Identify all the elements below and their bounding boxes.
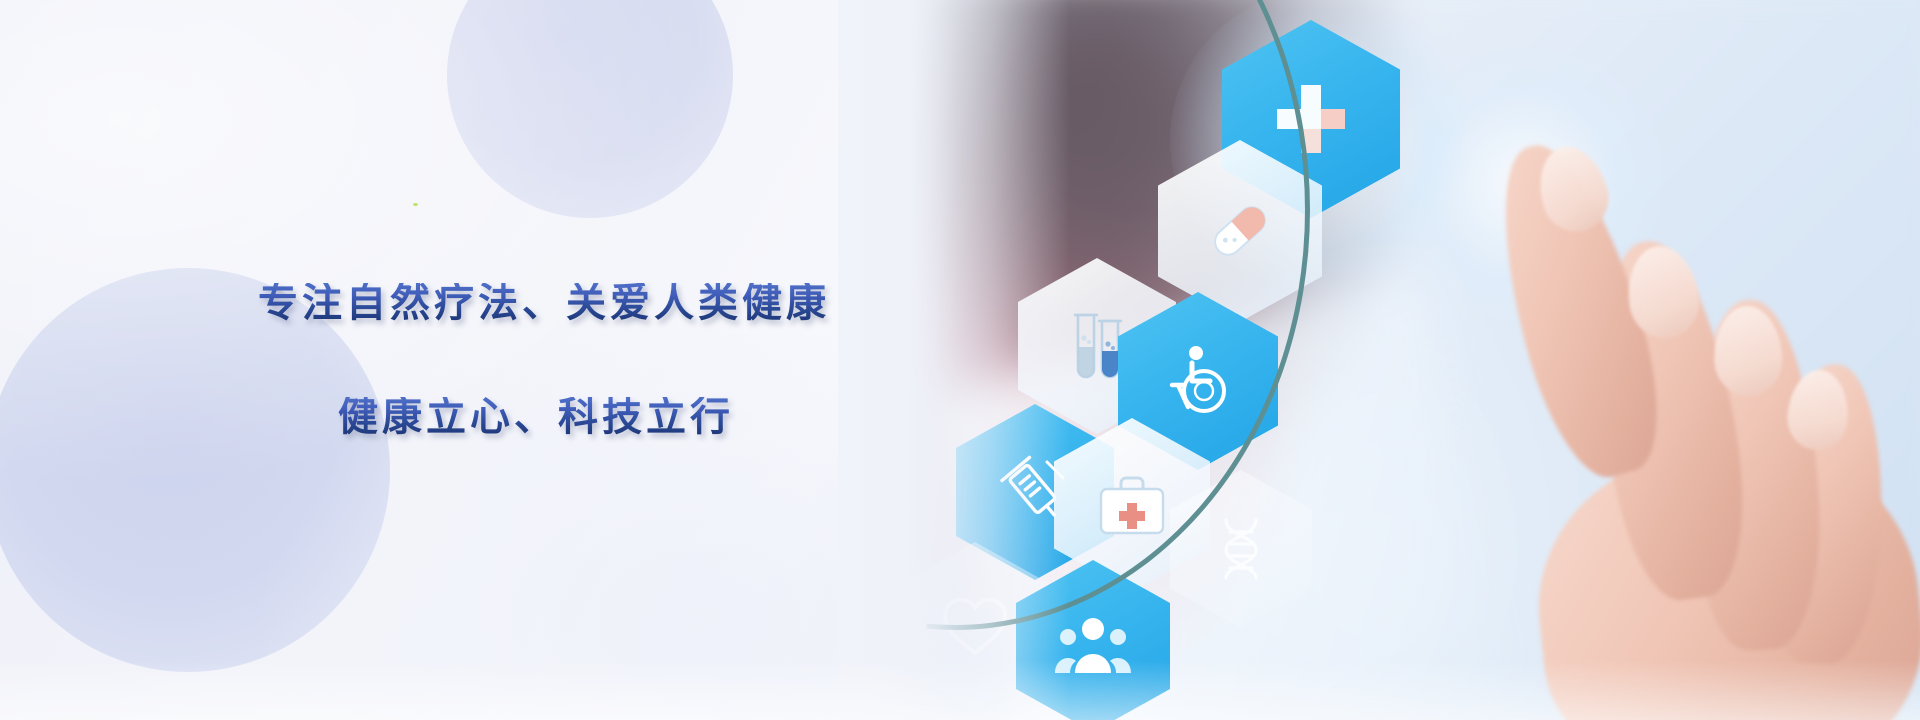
photo-left-fade — [840, 0, 1070, 720]
hero-photo — [840, 0, 1920, 720]
hero-banner: 专注自然疗法、关爱人类健康 健康立心、科技立行 — [0, 0, 1920, 720]
dna-icon — [1208, 514, 1274, 584]
headline-line-2: 健康立心、科技立行 — [338, 397, 860, 437]
headline-line-1: 专注自然疗法、关爱人类健康 — [258, 283, 860, 323]
headline-block: 专注自然疗法、关爱人类健康 健康立心、科技立行 — [0, 0, 860, 720]
